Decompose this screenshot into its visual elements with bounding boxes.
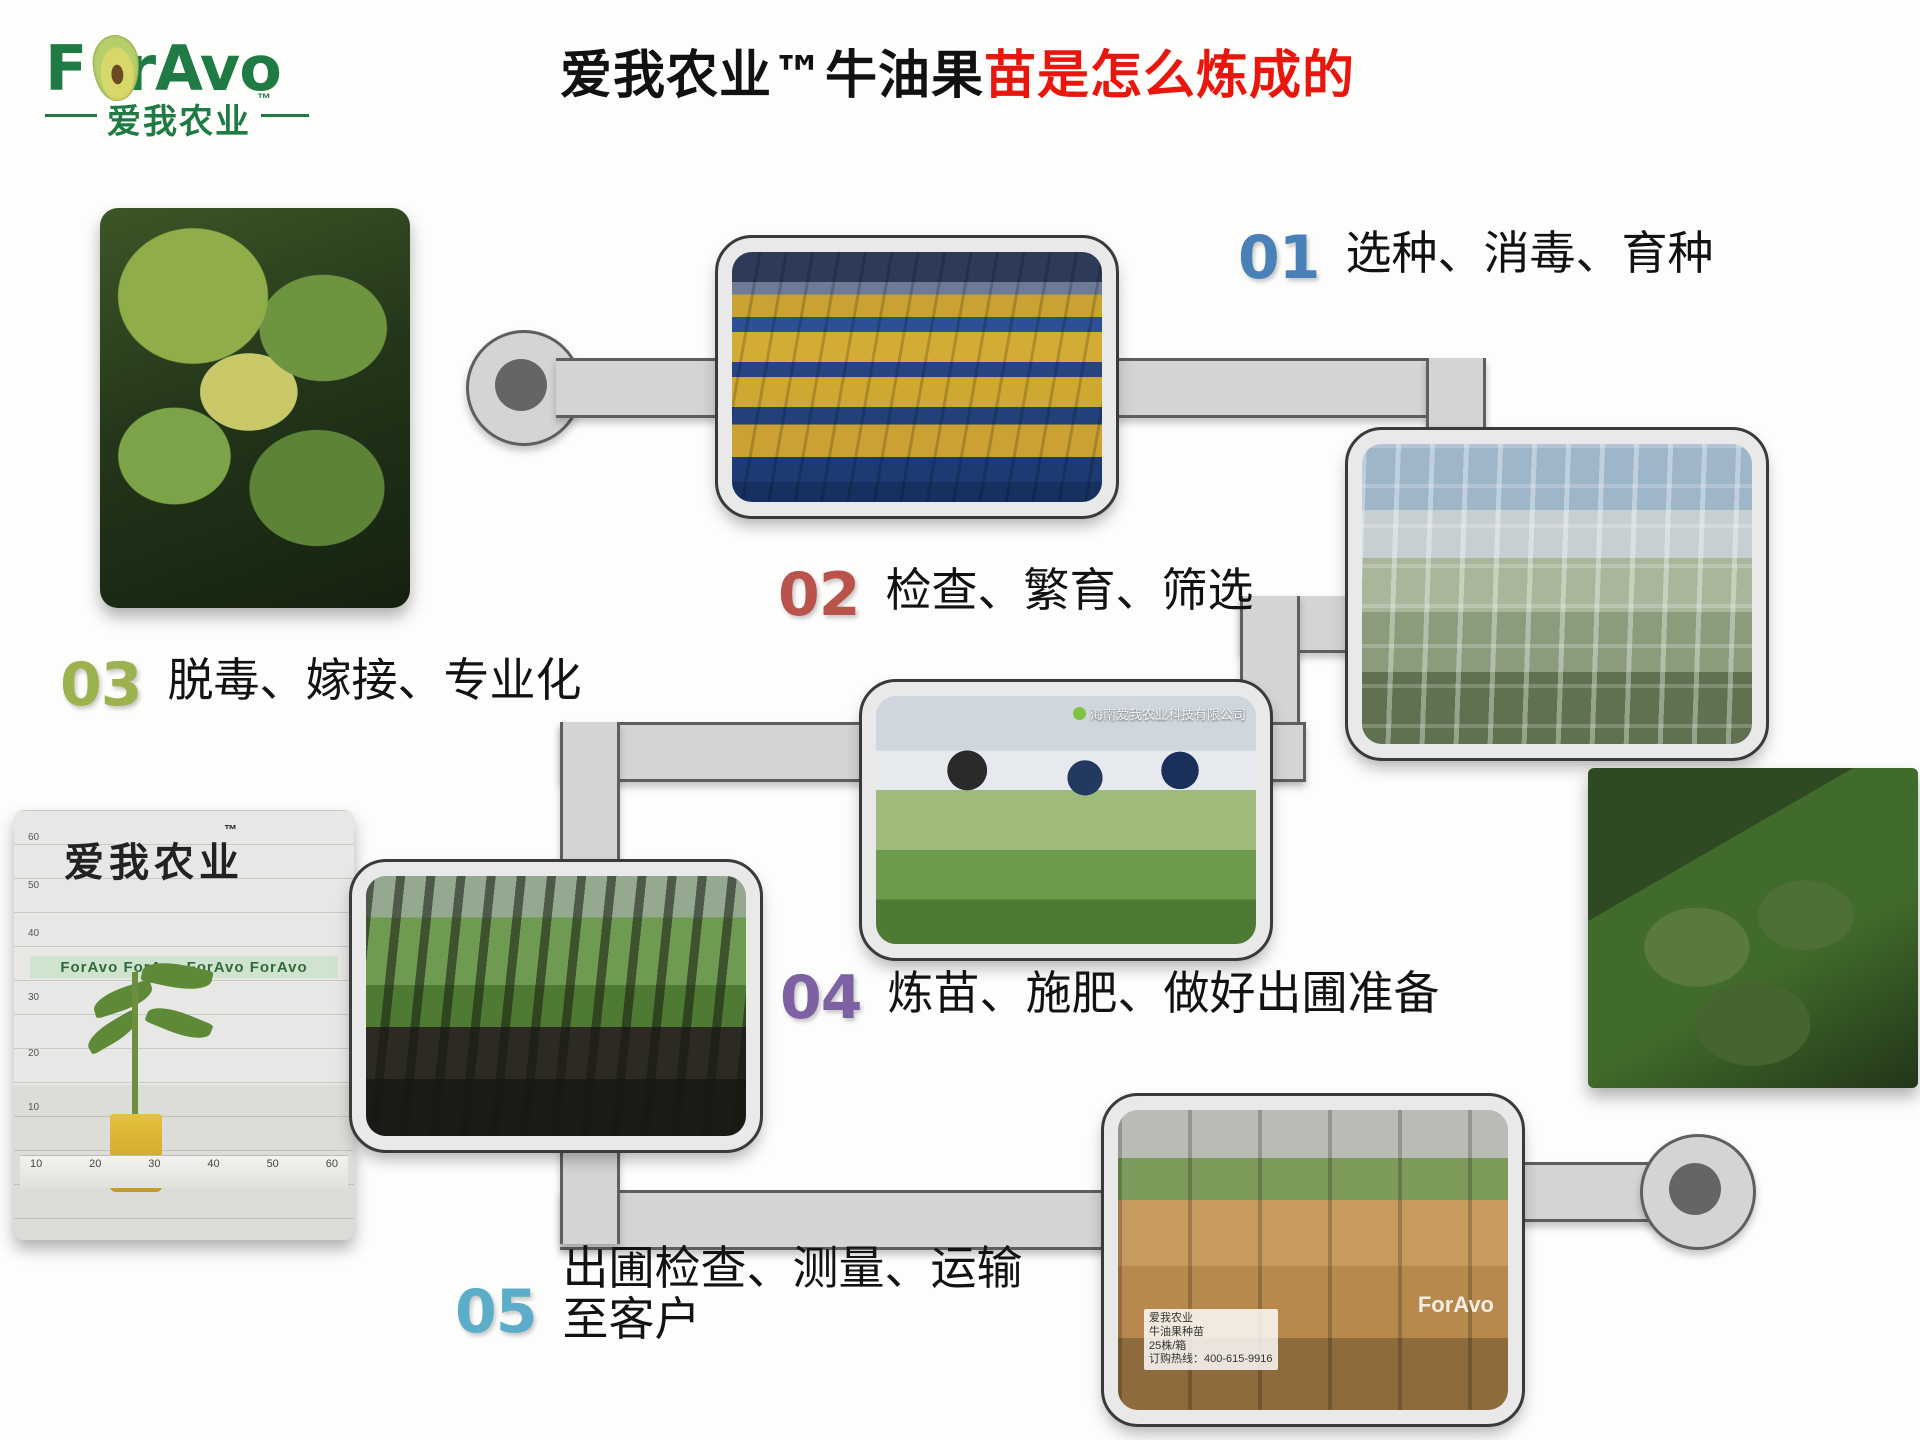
- photo-bags-content: [1362, 444, 1752, 744]
- step-number-01: 01: [1238, 228, 1320, 288]
- logo-letter-f: F: [45, 32, 84, 105]
- photo-staff-inspecting-seedlings: 海南爱我农业科技有限公司: [862, 682, 1270, 958]
- step-label-03: 03 脱毒、嫁接、专业化: [60, 655, 582, 715]
- photo-measuring-board-seedling: 60 50 40 30 20 10 爱我农业 ™ ForAvo ForAvo F…: [14, 810, 354, 1240]
- photo-pots-content: [366, 876, 746, 1136]
- step-number-03: 03: [60, 655, 142, 715]
- box-label-line3: 25株/箱: [1149, 1340, 1273, 1354]
- step-number-05: 05: [455, 1282, 537, 1342]
- step-label-05: 05 出圃检查、测量、运输 至客户: [455, 1282, 1023, 1346]
- logo-rule-right: [261, 114, 309, 117]
- measure-brand-text: 爱我农业: [64, 830, 244, 888]
- measure-horizontal-ruler: 10 20 30 40 50 60: [20, 1155, 348, 1188]
- photo-potted-seedlings-row: [352, 862, 760, 1150]
- photo-trays-content: [732, 252, 1102, 502]
- photo-avocado-flower-shoot: [100, 208, 410, 608]
- box-label-line1: 爱我农业: [1149, 1312, 1273, 1326]
- measure-brand-tm: ™: [224, 822, 237, 837]
- watermark-dot-icon: [1073, 707, 1086, 720]
- step-label-02: 02 检查、繁育、筛选: [778, 565, 1254, 625]
- photo-boxes-content: 爱我农业 牛油果种苗 25株/箱 订购热线：400-615-9916 ForAv…: [1118, 1110, 1508, 1410]
- ribbon-segment-2: [1090, 358, 1483, 418]
- title-black-part: 爱我农业™牛油果: [560, 46, 984, 106]
- page-title: 爱我农业™牛油果苗是怎么炼成的: [560, 48, 1460, 105]
- box-label-line4: 订购热线：400-615-9916: [1149, 1353, 1273, 1367]
- photo-seed-tray-greenhouse: [718, 238, 1116, 516]
- infographic-canvas: ForAvo 爱我农业 ™ 爱我农业™牛油果苗是怎么炼成的: [0, 0, 1920, 1440]
- measure-stem: [132, 972, 138, 1122]
- ribbon-end-cap: [1640, 1134, 1756, 1250]
- step-number-02: 02: [778, 565, 860, 625]
- photo-packed-shipping-boxes: 爱我农业 牛油果种苗 25株/箱 订购热线：400-615-9916 ForAv…: [1104, 1096, 1522, 1424]
- photo-grafting-bag-greenhouse: [1348, 430, 1766, 758]
- foravo-logo: ForAvo 爱我农业 ™: [45, 32, 325, 142]
- step-text-04: 炼苗、施肥、做好出圃准备: [888, 968, 1440, 1020]
- step-label-04: 04 炼苗、施肥、做好出圃准备: [780, 968, 1440, 1028]
- step-text-01: 选种、消毒、育种: [1346, 228, 1714, 280]
- box-shipping-label: 爱我农业 牛油果种苗 25株/箱 订购热线：400-615-9916: [1144, 1309, 1278, 1370]
- step-text-02: 检查、繁育、筛选: [886, 565, 1254, 617]
- photo-measure-content: 60 50 40 30 20 10 爱我农业 ™ ForAvo ForAvo F…: [14, 810, 354, 1240]
- logo-rule-left: [45, 114, 97, 117]
- step-number-04: 04: [780, 968, 862, 1028]
- watermark-text: 海南爱我农业科技有限公司: [1090, 708, 1246, 723]
- step-label-01: 01 选种、消毒、育种: [1238, 228, 1714, 288]
- step-text-05: 出圃检查、测量、运输 至客户: [563, 1243, 1023, 1346]
- logo-chinese-name: 爱我农业: [107, 94, 251, 143]
- title-red-part: 苗是怎么炼成的: [984, 46, 1355, 106]
- photo-avocado-fruit-on-tree: [1588, 768, 1918, 1088]
- ribbon-segment-1: [556, 358, 719, 418]
- photo-watermark: 海南爱我农业科技有限公司: [1073, 704, 1246, 723]
- box-label-line2: 牛油果种苗: [1149, 1326, 1273, 1340]
- photo-people-content: [876, 696, 1256, 944]
- photo-flower-content: [100, 208, 410, 608]
- photo-fruit-content: [1588, 768, 1918, 1088]
- step-text-03: 脱毒、嫁接、专业化: [168, 655, 582, 707]
- box-side-logo: ForAvo: [1418, 1292, 1494, 1318]
- logo-trademark-symbol: ™: [257, 90, 271, 106]
